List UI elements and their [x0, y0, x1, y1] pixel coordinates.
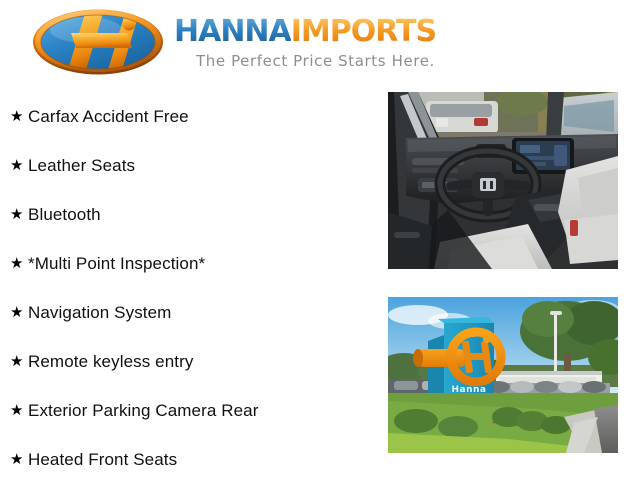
feature-label: Heated Front Seats [28, 450, 177, 470]
star-icon: ★ [10, 207, 28, 222]
brand-logo[interactable]: HANNA IMPORTS The Perfect Price Starts H… [28, 8, 436, 76]
star-icon: ★ [10, 305, 28, 320]
hanna-oval-h-logo-icon [28, 8, 168, 76]
dealer-header: HANNA IMPORTS The Perfect Price Starts H… [0, 0, 640, 84]
feature-label: Bluetooth [28, 205, 101, 225]
brand-name-imports: IMPORTS [291, 17, 436, 47]
star-icon: ★ [10, 452, 28, 467]
feature-label: Exterior Parking Camera Rear [28, 401, 259, 421]
list-item: ★ Bluetooth [6, 190, 381, 239]
list-item: ★ Carfax Accident Free [6, 92, 381, 141]
dealership-sign-photo[interactable]: 240 Hanna Imports [388, 297, 618, 453]
star-icon: ★ [10, 109, 28, 124]
star-icon: ★ [10, 403, 28, 418]
vehicle-feature-list: ★ Carfax Accident Free ★ Leather Seats ★… [6, 92, 381, 480]
star-icon: ★ [10, 354, 28, 369]
feature-label: Navigation System [28, 303, 171, 323]
list-item: ★ Exterior Parking Camera Rear [6, 386, 381, 435]
vehicle-interior-photo[interactable] [388, 92, 618, 269]
feature-label: Remote keyless entry [28, 352, 193, 372]
vehicle-features-page: HANNA IMPORTS The Perfect Price Starts H… [0, 0, 640, 480]
feature-label: Carfax Accident Free [28, 107, 189, 127]
star-icon: ★ [10, 256, 28, 271]
list-item: ★ Heated Front Seats [6, 435, 381, 480]
brand-wordmark: HANNA IMPORTS The Perfect Price Starts H… [174, 15, 436, 70]
brand-name-hanna: HANNA [174, 17, 291, 47]
list-item: ★ Leather Seats [6, 141, 381, 190]
feature-label: Leather Seats [28, 156, 135, 176]
list-item: ★ Remote keyless entry [6, 337, 381, 386]
list-item: ★ Navigation System [6, 288, 381, 337]
brand-tagline: The Perfect Price Starts Here. [196, 52, 436, 70]
list-item: ★ *Multi Point Inspection* [6, 239, 381, 288]
star-icon: ★ [10, 158, 28, 173]
feature-label: *Multi Point Inspection* [28, 254, 205, 274]
